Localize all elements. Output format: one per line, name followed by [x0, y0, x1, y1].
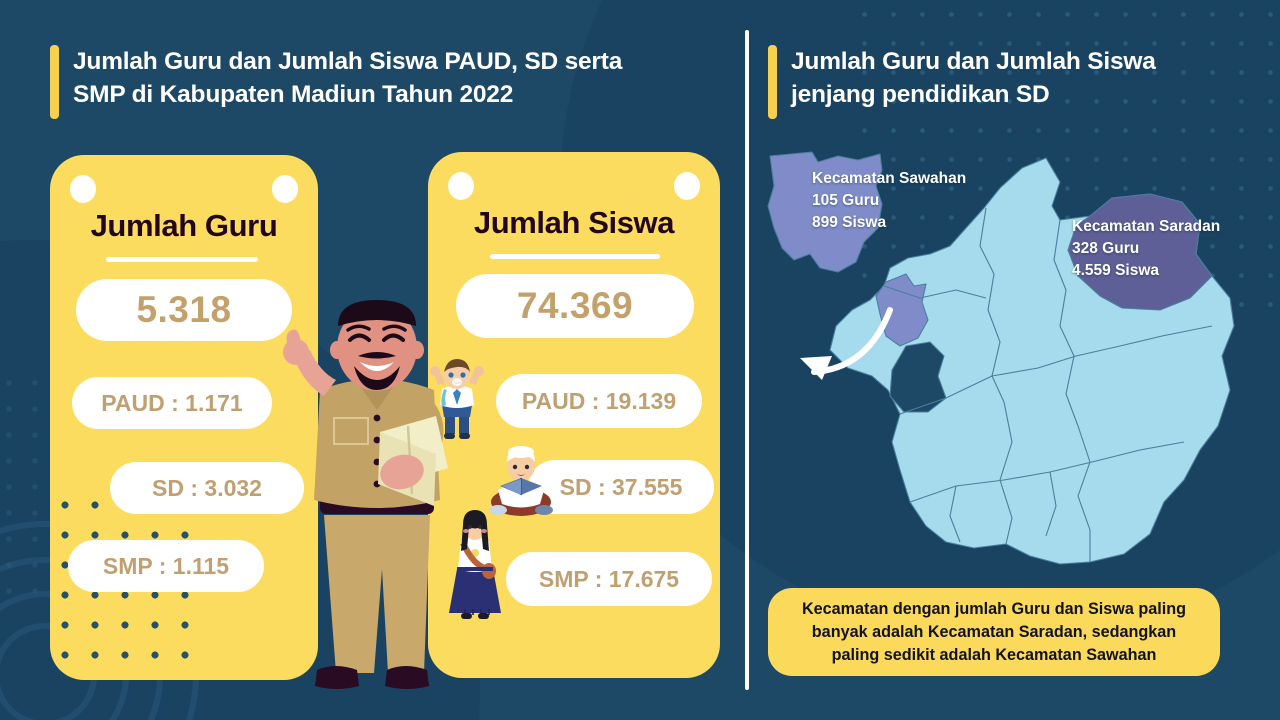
card-total-guru: 5.318	[76, 279, 292, 341]
card-title-siswa: Jumlah Siswa	[428, 205, 720, 241]
right-panel-heading: Jumlah Guru dan Jumlah Siswa jenjang pen…	[768, 45, 1156, 119]
card-title-underline	[490, 254, 660, 259]
card-title-underline	[106, 257, 258, 262]
teacher-illustration	[262, 300, 492, 720]
card-punch-hole-left	[448, 172, 474, 200]
breakdown-pill-smp-guru: SMP : 1.115	[68, 540, 264, 592]
left-panel-heading: Jumlah Guru dan Jumlah Siswa PAUD, SD se…	[50, 45, 622, 119]
heading-accent-bar	[50, 45, 59, 119]
panel-divider	[745, 30, 749, 690]
card-punch-hole-right	[674, 172, 700, 200]
map-label-sawahan: Kecamatan Sawahan 105 Guru 899 Siswa	[812, 168, 966, 234]
card-punch-hole-right	[272, 175, 298, 203]
right-heading-text: Jumlah Guru dan Jumlah Siswa jenjang pen…	[791, 45, 1156, 111]
breakdown-pill-smp-siswa: SMP : 17.675	[506, 552, 712, 606]
map-panel: Kecamatan Sawahan 105 Guru 899 Siswa Kec…	[760, 150, 1260, 570]
left-heading-text: Jumlah Guru dan Jumlah Siswa PAUD, SD se…	[73, 45, 622, 111]
heading-accent-bar	[768, 45, 777, 119]
map-caption-box: Kecamatan dengan jumlah Guru dan Siswa p…	[768, 588, 1220, 676]
card-punch-hole-left	[70, 175, 96, 203]
card-title-guru: Jumlah Guru	[50, 208, 318, 244]
infographic-canvas: Jumlah Guru dan Jumlah Siswa PAUD, SD se…	[0, 0, 1280, 720]
breakdown-pill-paud-guru: PAUD : 1.171	[72, 377, 272, 429]
breakdown-pill-paud-siswa: PAUD : 19.139	[496, 374, 702, 428]
map-label-saradan: Kecamatan Saradan 328 Guru 4.559 Siswa	[1072, 216, 1220, 282]
map-caption-text: Kecamatan dengan jumlah Guru dan Siswa p…	[802, 598, 1186, 667]
